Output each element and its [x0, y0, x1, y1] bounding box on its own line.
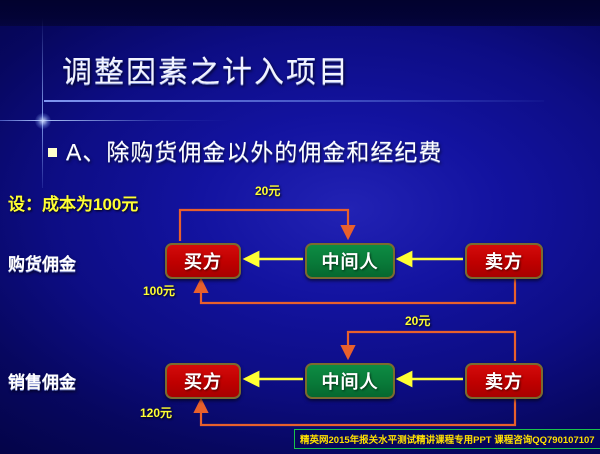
row1-node-middleman[interactable]: 中间人 [305, 243, 395, 279]
page-title: 调整因素之计入项目 [62, 47, 350, 91]
row1-node-seller[interactable]: 卖方 [465, 243, 543, 279]
decorative-vertical-line [42, 18, 43, 188]
assumption-text: 设：成本为100元 [8, 190, 138, 215]
subtitle-row: A、除购货佣金以外的佣金和经纪费 [48, 133, 442, 167]
top-band [0, 0, 600, 26]
row2-money-path-20 [348, 332, 515, 361]
row1-node-buyer[interactable]: 买方 [165, 243, 241, 279]
bullet-square-icon [48, 148, 57, 157]
row2-node-seller[interactable]: 卖方 [465, 363, 543, 399]
row2-money-label-20: 20元 [405, 312, 430, 329]
decorative-cross-glow [35, 113, 51, 129]
slide-canvas: 调整因素之计入项目 A、除购货佣金以外的佣金和经纪费 设：成本为100元 购货佣… [0, 0, 600, 454]
row1-money-path-20 [180, 210, 348, 241]
row1-money-label-100: 100元 [143, 282, 175, 299]
row1-money-path-100 [201, 277, 515, 303]
row2-money-path-120 [201, 397, 515, 425]
diagram-label-sales-commission: 销售佣金 [8, 368, 76, 393]
row2-node-buyer[interactable]: 买方 [165, 363, 241, 399]
row2-money-label-120: 120元 [140, 404, 172, 421]
title-underline [44, 100, 544, 102]
row1-money-label-20: 20元 [255, 182, 280, 199]
subtitle-text: A、除购货佣金以外的佣金和经纪费 [66, 133, 442, 167]
row2-node-middleman[interactable]: 中间人 [305, 363, 395, 399]
diagram-label-purchase-commission: 购货佣金 [8, 250, 76, 275]
watermark-banner: 精英网2015年报关水平测试精讲课程专用PPT 课程咨询QQ790107107 [294, 429, 600, 449]
